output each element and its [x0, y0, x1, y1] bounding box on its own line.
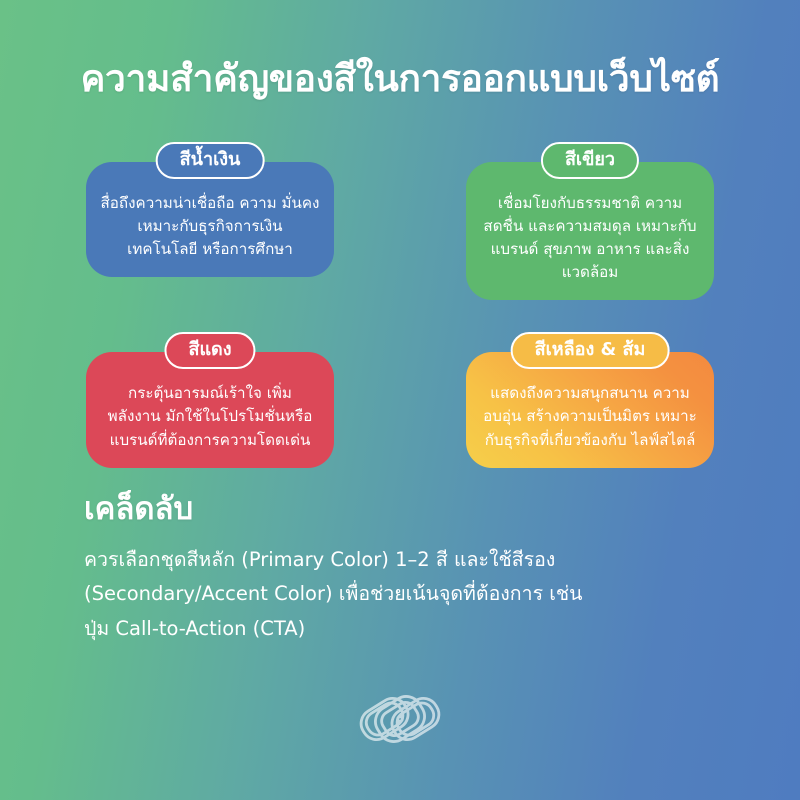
card-body-red: กระตุ้นอารมณ์เร้าใจ เพิ่ม พลังงาน มักใช้…	[100, 382, 320, 451]
card-panel-red: กระตุ้นอารมณ์เร้าใจ เพิ่ม พลังงาน มักใช้…	[86, 352, 334, 467]
card-panel-blue: สื่อถึงความน่าเชื่อถือ ความ มั่นคง เหมาะ…	[86, 162, 334, 277]
card-body-line: อบอุ่น สร้างความเป็นมิตร	[483, 407, 650, 425]
card-body-line: เทคโนโลยี หรือการศึกษา	[127, 240, 293, 258]
card-body-amber: แสดงถึงความสนุกสนาน ความ อบอุ่น สร้างควา…	[480, 382, 700, 451]
tip-body-line: ปุ่ม Call-to-Action (CTA)	[84, 612, 724, 647]
card-body-line: สื่อถึงความน่าเชื่อถือ ความ	[101, 194, 277, 212]
color-card-green: สีเขียว เชื่อมโยงกับธรรมชาติ ความสดชื่น …	[466, 142, 714, 300]
card-body-line: ไลฟ์สไตล์	[632, 431, 696, 449]
card-body-line: สุขภาพ อาหาร และสิ่งแวดล้อม	[543, 240, 689, 281]
tip-section: เคล็ดลับ ควรเลือกชุดสีหลัก (Primary Colo…	[84, 490, 724, 647]
card-badge-green: สีเขียว	[541, 142, 639, 179]
card-body-line: แบรนด์ที่ต้องการความโดดเด่น	[110, 431, 311, 449]
card-body-green: เชื่อมโยงกับธรรมชาติ ความสดชื่น และความส…	[480, 192, 700, 284]
card-body-line: แสดงถึงความสนุกสนาน ความ	[490, 384, 690, 402]
page-title: ความสำคัญของสีในการออกแบบเว็บไซต์	[0, 56, 800, 102]
card-body-line: กระตุ้นอารมณ์เร้าใจ เพิ่ม	[128, 384, 292, 402]
brand-logo	[354, 680, 446, 758]
card-panel-amber: แสดงถึงความสนุกสนาน ความ อบอุ่น สร้างควา…	[466, 352, 714, 467]
card-body-line: พลังงาน มักใช้ในโปรโมชั่นหรือ	[108, 407, 313, 425]
color-cards-grid: สีน้ำเงิน สื่อถึงความน่าเชื่อถือ ความ มั…	[86, 142, 714, 468]
card-panel-green: เชื่อมโยงกับธรรมชาติ ความสดชื่น และความส…	[466, 162, 714, 300]
interlocking-rounded-squares-logo-icon	[354, 680, 446, 758]
card-body-blue: สื่อถึงความน่าเชื่อถือ ความ มั่นคง เหมาะ…	[100, 192, 320, 261]
color-card-red: สีแดง กระตุ้นอารมณ์เร้าใจ เพิ่ม พลังงาน …	[86, 332, 334, 467]
color-card-amber: สีเหลือง & ส้ม แสดงถึงความสนุกสนาน ความ …	[466, 332, 714, 467]
card-badge-amber: สีเหลือง & ส้ม	[511, 332, 670, 369]
tip-body-line: (Secondary/Accent Color) เพื่อช่วยเน้นจุ…	[84, 577, 724, 612]
card-badge-blue: สีน้ำเงิน	[156, 142, 265, 179]
tip-body-line: ควรเลือกชุดสีหลัก (Primary Color) 1–2 สี…	[84, 543, 724, 578]
card-badge-red: สีแดง	[164, 332, 255, 369]
color-card-blue: สีน้ำเงิน สื่อถึงความน่าเชื่อถือ ความ มั…	[86, 142, 334, 300]
tip-heading: เคล็ดลับ	[84, 490, 724, 529]
tip-body: ควรเลือกชุดสีหลัก (Primary Color) 1–2 สี…	[84, 543, 724, 647]
